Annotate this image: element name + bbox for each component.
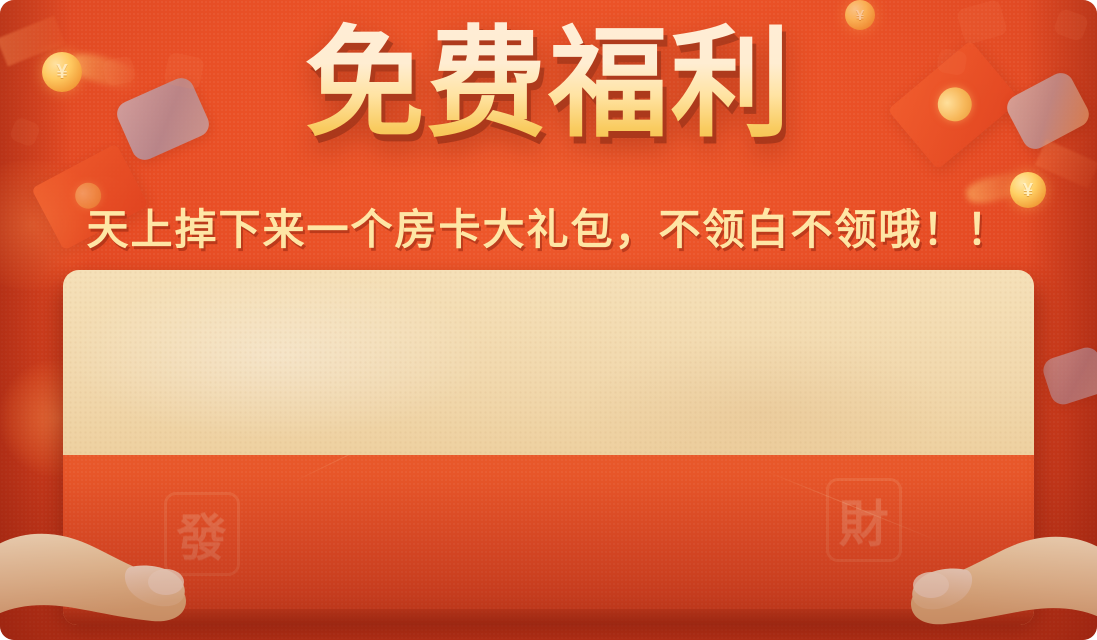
pocket-seal-layer: 發 財	[63, 455, 1034, 625]
page-title: 免费福利	[0, 18, 1097, 152]
envelope-paper-card: 發 財	[63, 270, 1034, 625]
page-subtitle: 天上掉下来一个房卡大礼包，不领白不领哦！！	[0, 196, 1097, 257]
gift-envelope[interactable]: 發 財	[63, 270, 1034, 625]
seal-fa-icon: 發	[164, 492, 240, 576]
pocket-fold-line-left	[291, 455, 435, 483]
envelope-pocket: 發 財	[63, 455, 1034, 625]
card-chip-bottom-right	[1040, 344, 1097, 408]
pocket-front: 發 財	[63, 455, 1034, 625]
promo-banner: ¥ ¥ ¥ 免费福利 天上掉下来一个房卡大礼包，不领白不领哦！！	[0, 0, 1097, 640]
pocket-bottom-shadow	[63, 609, 1034, 625]
